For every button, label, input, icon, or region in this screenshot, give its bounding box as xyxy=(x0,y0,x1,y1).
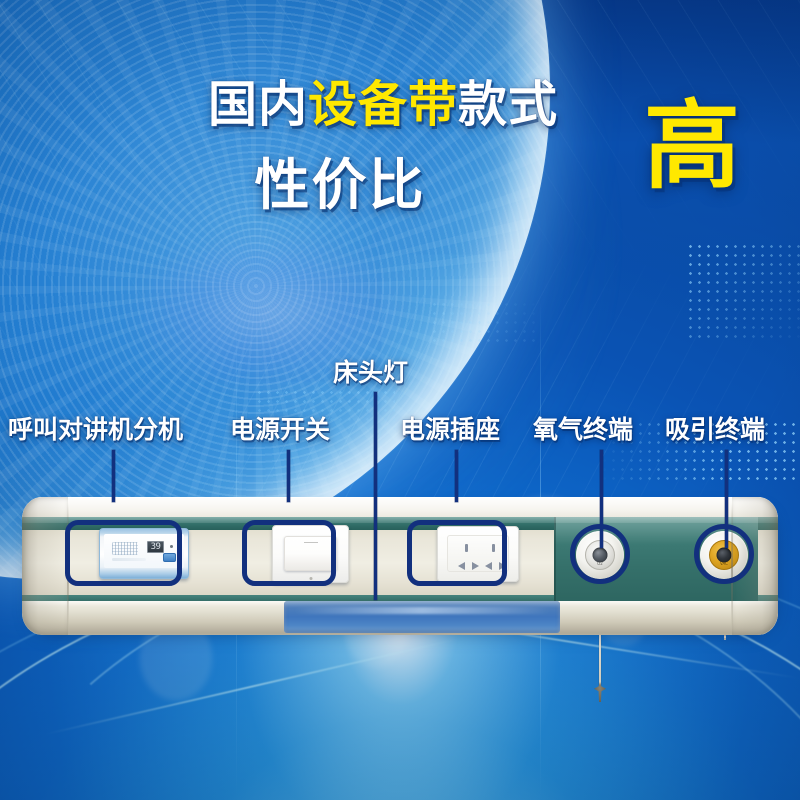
callout-label-bed-lamp: 床头灯 xyxy=(333,358,408,388)
highlight-outline-intercom xyxy=(65,520,182,586)
callout-label-power-socket: 电源插座 xyxy=(400,415,500,445)
highlight-outline-power-switch xyxy=(242,520,336,586)
callout-layer: 呼叫对讲机分机 电源开关 床头灯 电源插座 氧气终端 吸引终端 xyxy=(0,0,800,800)
highlight-outline-oxygen-terminal xyxy=(570,524,630,584)
poster-stage: 国内设备带款式 性价比 高 呼叫对讲机分机 电源开关 床头灯 电源插座 氧气终端… xyxy=(0,0,800,800)
callout-label-power-switch: 电源开关 xyxy=(230,415,330,445)
callout-label-oxygen-terminal: 氧气终端 xyxy=(533,415,633,445)
highlight-outline-power-socket xyxy=(407,520,507,586)
leader-line-intercom xyxy=(112,450,115,502)
callout-label-intercom: 呼叫对讲机分机 xyxy=(8,415,183,445)
leader-line-power-switch xyxy=(287,450,290,502)
callout-label-suction-terminal: 吸引终端 xyxy=(665,415,765,445)
highlight-outline-suction-terminal xyxy=(694,524,754,584)
leader-line-bed-lamp xyxy=(374,392,377,600)
leader-line-power-socket xyxy=(455,450,458,502)
